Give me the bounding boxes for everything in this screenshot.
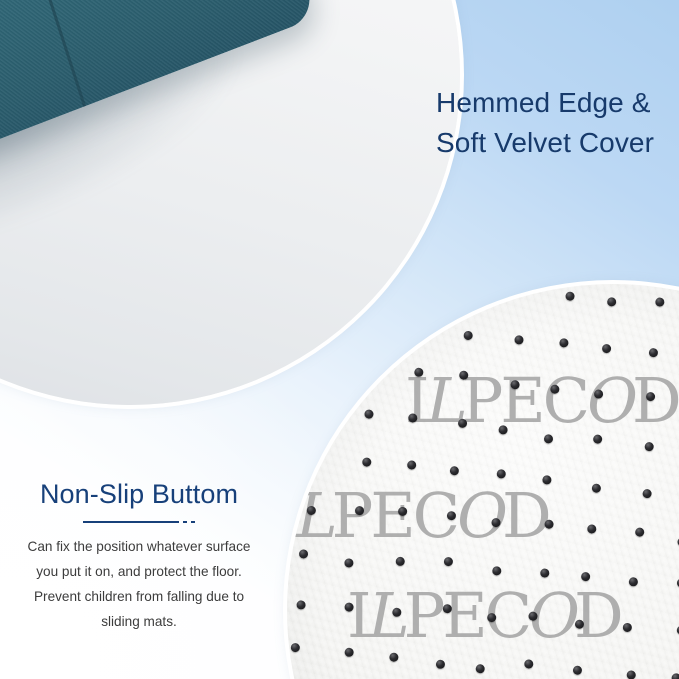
rubber-grip-dot bbox=[398, 506, 408, 516]
rubber-grip-dot bbox=[671, 673, 679, 679]
divider-tick bbox=[183, 521, 187, 523]
rubber-grip-dot bbox=[544, 434, 554, 444]
rubber-grip-dot bbox=[622, 623, 632, 633]
rubber-grip-dot bbox=[392, 607, 402, 617]
rubber-grip-dot bbox=[655, 297, 665, 307]
rubber-grip-dot bbox=[593, 435, 603, 445]
rubber-grip-dot bbox=[492, 566, 502, 576]
rubber-grip-dot bbox=[514, 335, 524, 345]
rubber-grip-dot bbox=[435, 660, 445, 670]
rubber-grip-dot bbox=[463, 331, 473, 341]
rubber-grip-dot bbox=[510, 380, 520, 390]
feature-block-nonslip: Non-Slip Buttom Can fix the position wha… bbox=[8, 478, 270, 634]
rubber-grip-dot bbox=[444, 557, 454, 567]
feature-body-line: Prevent children from falling due to bbox=[8, 585, 270, 610]
rubber-grip-dot bbox=[628, 577, 638, 587]
rubber-grip-dot bbox=[524, 659, 534, 669]
rubber-grip-dot bbox=[649, 348, 659, 358]
feature-body-line: Can fix the position whatever surface bbox=[8, 535, 270, 560]
rubber-grip-dot-grid bbox=[287, 284, 679, 679]
rubber-grip-dot bbox=[487, 613, 497, 623]
divider-rule bbox=[83, 521, 179, 523]
rubber-grip-dot bbox=[307, 506, 317, 516]
rubber-grip-dot bbox=[299, 549, 309, 559]
rubber-grip-dot bbox=[476, 664, 486, 674]
rubber-grip-dot bbox=[364, 409, 374, 419]
rubber-grip-dot bbox=[540, 568, 550, 578]
title-divider bbox=[8, 521, 270, 523]
headline-line-1: Hemmed Edge & bbox=[436, 83, 679, 123]
infographic-canvas: ILPECOD ILPECOD ILPECOD Hemmed Edge & So… bbox=[0, 0, 679, 679]
rubber-grip-dot bbox=[457, 418, 467, 428]
rubber-grip-dot bbox=[544, 520, 554, 530]
rubber-grip-dot bbox=[594, 390, 604, 400]
rubber-grip-dot bbox=[449, 466, 459, 476]
rubber-grip-dot bbox=[575, 619, 585, 629]
feature-title: Non-Slip Buttom bbox=[8, 478, 270, 510]
rubber-grip-dot bbox=[542, 475, 552, 485]
rubber-grip-dot bbox=[459, 371, 469, 381]
rubber-grip-dot bbox=[635, 527, 645, 537]
rubber-grip-dot bbox=[573, 666, 583, 676]
feature-body-line: you put it on, and protect the floor. bbox=[8, 560, 270, 585]
headline: Hemmed Edge & Soft Velvet Cover bbox=[436, 83, 679, 163]
rubber-grip-dot bbox=[414, 367, 424, 377]
rubber-grip-dot bbox=[550, 384, 560, 394]
rubber-grip-dot bbox=[406, 460, 416, 470]
rubber-grip-dot bbox=[443, 604, 453, 614]
rubber-grip-dot bbox=[602, 344, 612, 354]
rubber-grip-dot bbox=[592, 483, 602, 493]
rubber-grip-dot bbox=[496, 469, 506, 479]
rubber-grip-dot bbox=[491, 518, 501, 528]
rubber-grip-dot bbox=[645, 392, 655, 402]
rubber-grip-dot bbox=[587, 524, 597, 534]
rubber-grip-dot bbox=[344, 603, 354, 613]
rubber-grip-dot bbox=[362, 457, 372, 467]
divider-tick bbox=[191, 521, 195, 523]
rubber-grip-dot bbox=[344, 558, 354, 568]
rubber-grip-dot bbox=[389, 652, 399, 662]
rubber-grip-dot bbox=[344, 648, 354, 658]
rubber-grip-dot bbox=[355, 506, 365, 516]
rubber-grip-dot bbox=[642, 489, 652, 499]
rubber-grip-dot bbox=[644, 442, 654, 452]
rubber-grip-dot bbox=[607, 297, 617, 307]
rubber-grip-dot bbox=[565, 291, 575, 301]
rubber-grip-dot bbox=[408, 414, 418, 424]
rubber-grip-dot bbox=[290, 643, 300, 653]
rubber-grip-dot bbox=[528, 611, 538, 621]
rubber-grip-dot bbox=[499, 425, 509, 435]
rubber-grip-dot bbox=[446, 511, 456, 521]
feature-body-line: sliding mats. bbox=[8, 610, 270, 635]
feature-body: Can fix the position whatever surface yo… bbox=[8, 535, 270, 634]
rubber-grip-dot bbox=[559, 338, 569, 348]
rubber-grip-dot bbox=[626, 671, 636, 679]
rubber-grip-dot bbox=[296, 600, 306, 610]
headline-line-2: Soft Velvet Cover bbox=[436, 123, 679, 163]
rubber-grip-dot bbox=[395, 557, 405, 567]
product-photo-nonslip-mat: ILPECOD ILPECOD ILPECOD bbox=[287, 284, 679, 679]
mat-surface: ILPECOD ILPECOD ILPECOD bbox=[287, 284, 679, 679]
rubber-grip-dot bbox=[581, 572, 591, 582]
